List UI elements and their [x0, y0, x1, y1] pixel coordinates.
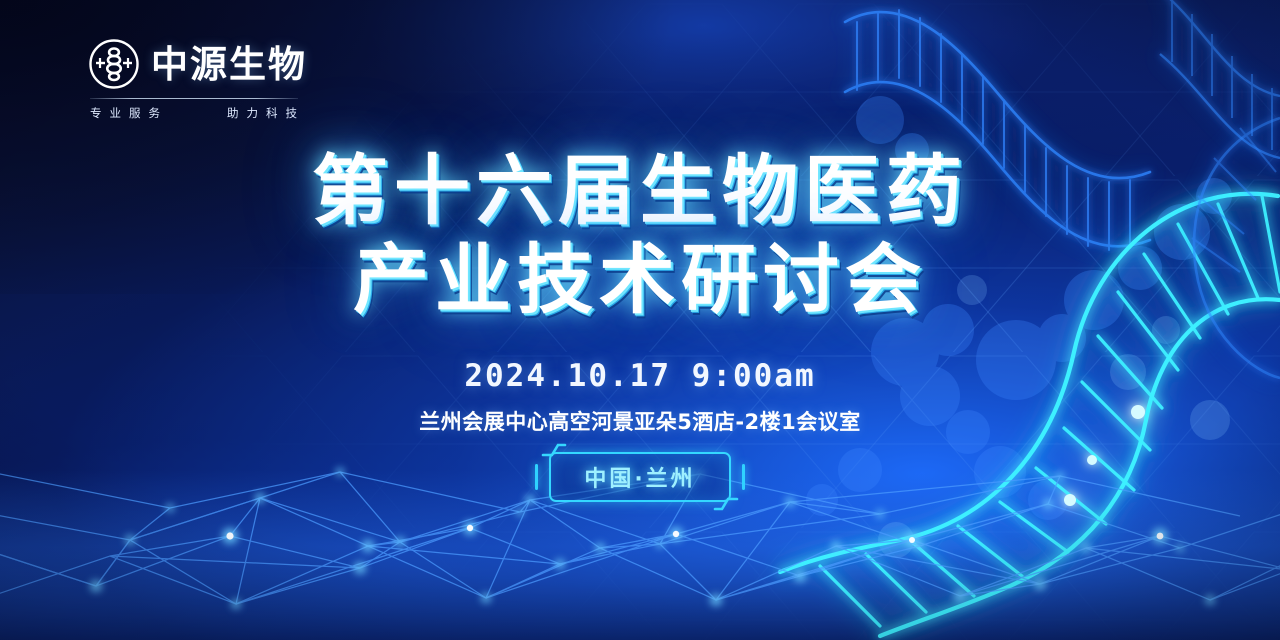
location-badge: 中国·兰州: [549, 452, 731, 502]
brand-divider: [90, 98, 298, 99]
tagline-char: 技: [286, 105, 299, 121]
brand-tagline-right: 助 力 科 技: [227, 105, 298, 121]
tagline-char: 科: [266, 105, 279, 121]
circular-emblem-icon: [88, 38, 140, 90]
tagline-char: 助: [227, 105, 240, 121]
badge-tick-icon: [535, 464, 538, 490]
tagline-char: 务: [149, 105, 162, 121]
tagline-char: 服: [129, 105, 142, 121]
tagline-char: 业: [110, 105, 123, 121]
event-datetime: 2024.10.17 9:00am: [464, 358, 815, 394]
brand-logo-row: 中源生物: [88, 38, 307, 90]
brand-tagline: 专 业 服 务 助 力 科 技: [90, 105, 298, 121]
location-badge-label: 中国·兰州: [549, 452, 731, 502]
badge-tick-icon: [742, 464, 745, 490]
conference-banner: 中源生物 专 业 服 务 助 力 科 技 第十六届生物医药 产业技术研讨会 20…: [0, 0, 1280, 640]
brand-logo: 中源生物 专 业 服 务 助 力 科 技: [88, 38, 307, 121]
brand-tagline-left: 专 业 服 务: [90, 105, 161, 121]
tagline-char: 专: [90, 105, 103, 121]
tagline-char: 力: [247, 105, 260, 121]
event-venue: 兰州会展中心高空河景亚朵5酒店-2楼1会议室: [419, 406, 861, 436]
brand-name: 中源生物: [151, 46, 307, 83]
